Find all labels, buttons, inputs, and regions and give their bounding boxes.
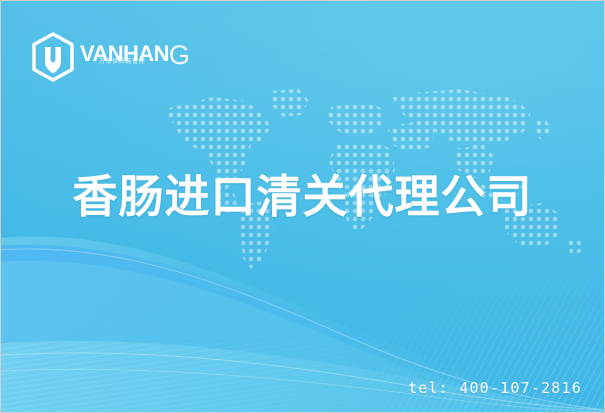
brand-wordmark: VANHANG 万享供应链管理 xyxy=(80,40,176,74)
brand-wordmark-tail: G xyxy=(169,40,189,70)
page-title: 香肠进口清关代理公司 xyxy=(1,171,604,223)
contact-phone[interactable]: tel: 400-107-2816 xyxy=(408,379,582,397)
brand-logo[interactable]: VANHANG 万享供应链管理 xyxy=(30,31,176,83)
brand-subtitle: 万享供应链管理 xyxy=(99,58,145,66)
promo-banner: VANHANG 万享供应链管理 香肠进口清关代理公司 tel: 400-107-… xyxy=(0,0,605,413)
vanhang-hexagon-logo-icon xyxy=(30,32,76,82)
